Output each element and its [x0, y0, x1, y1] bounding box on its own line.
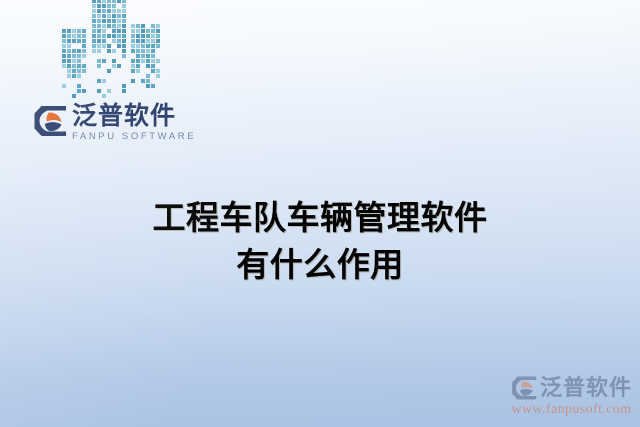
fanpu-emblem-watermark-icon [511, 375, 537, 401]
page-title-line-2: 有什么作用 [0, 241, 640, 288]
page-title: 工程车队车辆管理软件 有什么作用 [0, 194, 640, 288]
watermark: 泛普软件 www.fanpusoft.com [511, 375, 632, 418]
fanpu-emblem-icon [33, 104, 67, 138]
brand-name-en: FANPU SOFTWARE [72, 130, 196, 143]
watermark-url: www.fanpusoft.com [511, 402, 632, 418]
right-building [131, 24, 160, 98]
page-title-line-1: 工程车队车辆管理软件 [0, 194, 640, 241]
left-building [62, 29, 86, 98]
poster-canvas: 泛普软件 FANPU SOFTWARE 工程车队车辆管理软件 有什么作用 泛普软… [0, 0, 640, 427]
watermark-name-cn: 泛普软件 [540, 376, 632, 400]
brand-wordmark: 泛普软件 FANPU SOFTWARE [72, 103, 196, 143]
pixel-skyline-graphic [62, 6, 172, 98]
watermark-logo: 泛普软件 [511, 375, 632, 401]
center-building [92, 0, 126, 98]
brand-name-cn: 泛普软件 [72, 103, 196, 129]
brand-logo: 泛普软件 FANPU SOFTWARE [33, 103, 196, 143]
